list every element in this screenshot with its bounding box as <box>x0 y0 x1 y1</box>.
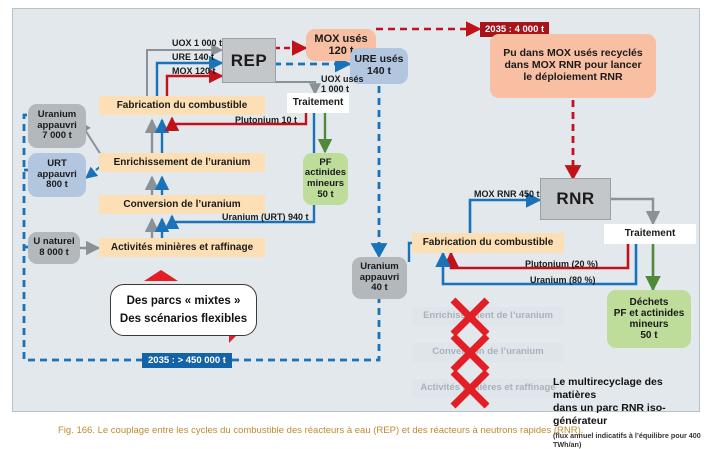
callout-line-1: Des parcs « mixtes » <box>127 295 241 307</box>
process-traitement-rnr: Traitement <box>604 224 696 244</box>
process-label: Activités minières et raffinage <box>420 383 555 394</box>
process-label: Traitement <box>293 97 344 108</box>
flow-label-uranium-urt-940: Uranium (URT) 940 t <box>222 213 309 222</box>
stock-label: PF actinides mineurs 50 t <box>305 158 346 201</box>
process-activites-minieres-suppressed: Activités minières et raffinage <box>412 379 564 398</box>
callout-parcs-mixtes: Des parcs « mixtes » Des scénarios flexi… <box>110 284 257 336</box>
process-label: Fabrication du combustible <box>423 237 554 248</box>
process-label: Enrichissement de l’uranium <box>423 311 553 322</box>
flow-label-uranium-80pc: Uranium (80 %) <box>530 276 596 285</box>
flow-label-plutonium-10: Plutonium 10 t <box>235 116 297 125</box>
flow-label-mox-rnr-450: MOX RNR 450 t <box>474 190 540 199</box>
process-conversion-uranium-suppressed: Conversion de l’uranium <box>412 343 564 362</box>
callout-text: Pu dans MOX usés recyclés dans MOX RNR p… <box>503 48 642 83</box>
stock-uranium-appauvri-40: Uranium appauvri 40 t <box>352 257 407 299</box>
flow-label-plutonium-20pc: Plutonium (20 %) <box>525 260 598 269</box>
process-label: Enrichissement de l’uranium <box>114 157 251 168</box>
note-multirecyclage: Le multirecyclage des matières dans un p… <box>553 376 703 449</box>
reactor-rnr: RNR <box>540 178 611 220</box>
reactor-rep: REP <box>222 38 276 83</box>
process-activites-minieres-raffinage: Activités minières et raffinage <box>99 238 265 257</box>
tag-2035-450000t: 2035 : > 450 000 t <box>142 353 232 368</box>
flow-label-uox-uses-1000: UOX usés 1 000 t <box>321 74 364 95</box>
stock-u-naturel-8000: U naturel 8 000 t <box>28 232 80 264</box>
process-label: Traitement <box>625 228 676 239</box>
flow-label-uox-1000: UOX 1 000 t <box>172 39 222 48</box>
reactor-label: RNR <box>556 189 594 208</box>
process-label: Fabrication du combustible <box>117 100 248 111</box>
callout-pu-mox-rnr: Pu dans MOX usés recyclés dans MOX RNR p… <box>490 34 656 98</box>
process-enrichissement-uranium: Enrichissement de l’uranium <box>99 153 265 172</box>
note-line-1: Le multirecyclage des matières <box>553 376 663 401</box>
stock-label: U naturel 8 000 t <box>33 237 74 258</box>
process-label: Conversion de l’uranium <box>123 199 240 210</box>
flow-label-ure-140: URE 140 t <box>172 53 214 62</box>
stock-label: Déchets PF et actinides mineurs 50 t <box>614 297 685 342</box>
stock-label: URT appauvri 800 t <box>37 159 77 191</box>
process-traitement-rep: Traitement <box>287 93 349 113</box>
process-label: Conversion de l’uranium <box>432 347 543 358</box>
process-fabrication-combustible-rep: Fabrication du combustible <box>99 96 265 115</box>
flow-label-mox-120: MOX 120 t <box>172 67 216 76</box>
process-label: Activités minières et raffinage <box>111 242 253 253</box>
stock-dechets-pf-actinides-50: Déchets PF et actinides mineurs 50 t <box>607 290 691 348</box>
stock-label: Uranium appauvri 7 000 t <box>37 110 77 142</box>
stock-uranium-appauvri-7000: Uranium appauvri 7 000 t <box>28 104 86 148</box>
callout-line-2: Des scénarios flexibles <box>120 313 247 325</box>
stock-label: Uranium appauvri 40 t <box>360 262 400 294</box>
stock-pf-actinides-mineurs-50: PF actinides mineurs 50 t <box>303 153 348 205</box>
stock-urt-appauvri-800: URT appauvri 800 t <box>28 153 86 197</box>
process-enrichissement-uranium-suppressed: Enrichissement de l’uranium <box>412 307 564 326</box>
figure-root: Uranium appauvri 7 000 t URT appauvri 80… <box>0 0 720 445</box>
figure-caption: Fig. 166. Le couplage entre les cycles d… <box>58 425 583 436</box>
process-fabrication-combustible-rnr: Fabrication du combustible <box>412 233 564 253</box>
reactor-label: REP <box>231 51 267 70</box>
note-line-2: dans un parc RNR iso-générateur <box>553 402 666 427</box>
